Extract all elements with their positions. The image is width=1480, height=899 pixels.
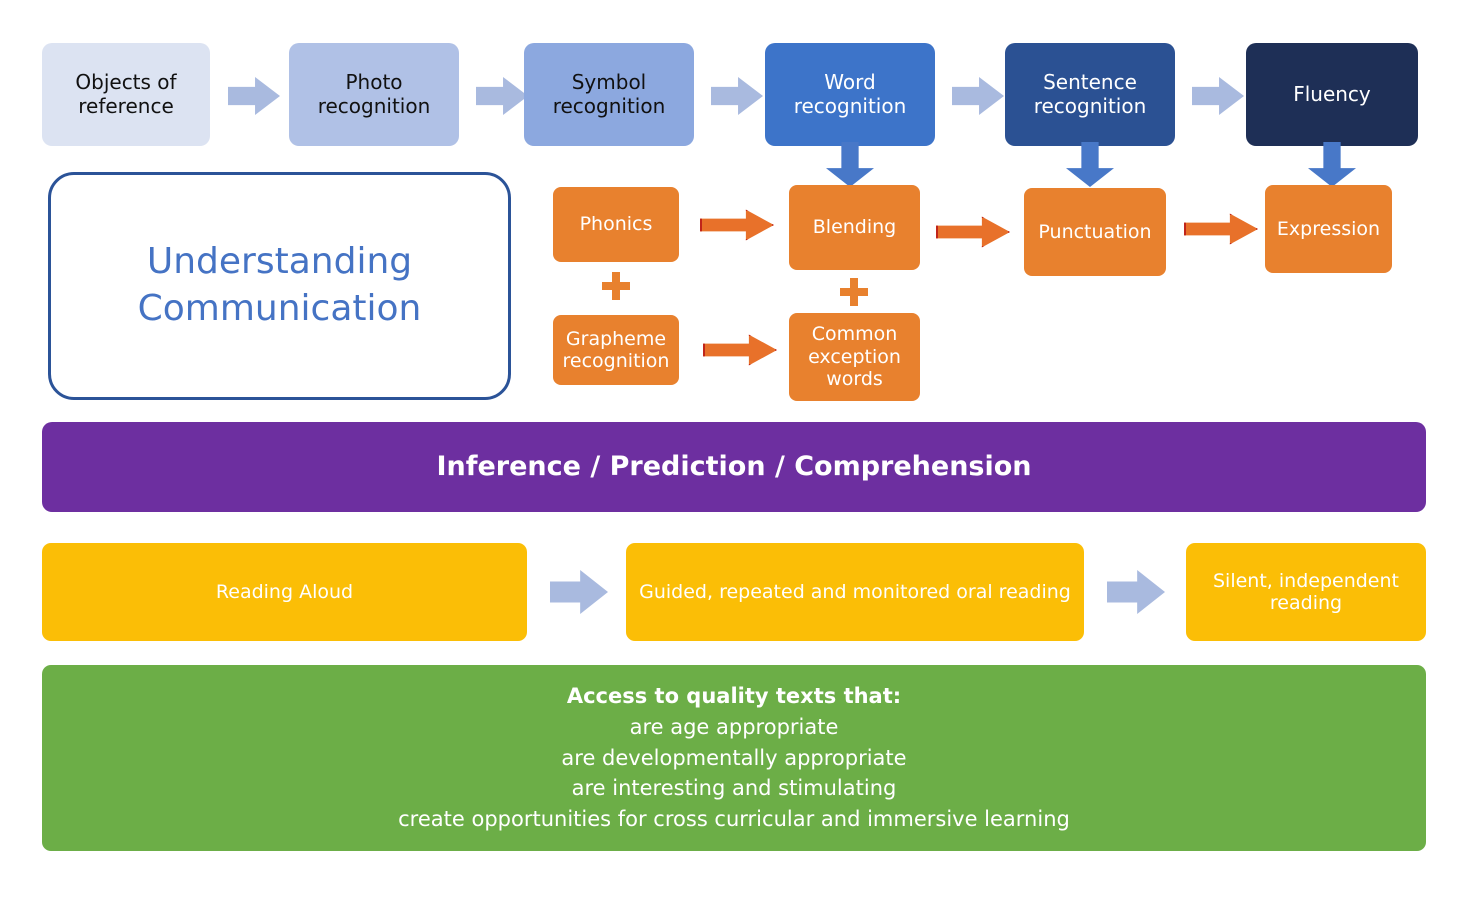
- guided-oral-reading-box[interactable]: Guided, repeated and monitored oral read…: [626, 543, 1084, 641]
- silent-independent-reading-box[interactable]: Silent, independent reading: [1186, 543, 1426, 641]
- understanding-text: Understanding Communication: [138, 239, 422, 333]
- reading-aloud-box[interactable]: Reading Aloud: [42, 543, 527, 641]
- chevron-arrow-icon-1: [228, 77, 280, 115]
- grapheme-recognition-box[interactable]: Grapheme recognition: [553, 315, 679, 385]
- phonics-box[interactable]: Phonics: [553, 187, 679, 262]
- plus-icon-blending-common-exception: [840, 278, 868, 306]
- down-arrow-icon-sentence-to-punctuation: [1066, 142, 1114, 187]
- expression-box[interactable]: Expression: [1265, 185, 1392, 273]
- down-arrow-icon-word-to-blending: [826, 142, 874, 187]
- quality-texts-line-1: are age appropriate: [630, 712, 839, 743]
- chevron-arrow-icon-4: [952, 77, 1004, 115]
- common-exception-words-box[interactable]: Common exception words: [789, 313, 920, 401]
- understanding-line-2: Communication: [138, 286, 422, 333]
- comprehension-band[interactable]: Inference / Prediction / Comprehension: [42, 422, 1426, 512]
- orange-arrow-icon-grapheme-to-common-exception: [703, 334, 777, 366]
- understanding-communication-box[interactable]: Understanding Communication: [48, 172, 511, 400]
- plus-icon-phonics-grapheme: [602, 272, 630, 300]
- quality-texts-heading: Access to quality texts that:: [567, 681, 901, 712]
- orange-arrow-icon-phonics-to-blending: [700, 209, 774, 241]
- diagram-canvas: Objects of reference Photo recognition S…: [0, 0, 1480, 899]
- stage-box-word-recognition[interactable]: Word recognition: [765, 43, 935, 146]
- quality-texts-line-4: create opportunities for cross curricula…: [398, 804, 1070, 835]
- stage-box-symbol-recognition[interactable]: Symbol recognition: [524, 43, 694, 146]
- chevron-arrow-icon-5: [1192, 77, 1244, 115]
- stage-box-sentence-recognition[interactable]: Sentence recognition: [1005, 43, 1175, 146]
- blending-box[interactable]: Blending: [789, 185, 920, 270]
- stage-box-photo-recognition[interactable]: Photo recognition: [289, 43, 459, 146]
- orange-arrow-icon-punctuation-to-expression: [1184, 213, 1258, 245]
- quality-texts-line-3: are interesting and stimulating: [572, 773, 897, 804]
- orange-arrow-icon-blending-to-punctuation: [936, 216, 1010, 248]
- chevron-arrow-icon-reading-2: [1107, 570, 1165, 614]
- understanding-line-1: Understanding: [138, 239, 422, 286]
- chevron-arrow-icon-reading-1: [550, 570, 608, 614]
- chevron-arrow-icon-3: [711, 77, 763, 115]
- down-arrow-icon-fluency-to-expression: [1308, 142, 1356, 187]
- stage-box-fluency[interactable]: Fluency: [1246, 43, 1418, 146]
- stage-box-objects-of-reference[interactable]: Objects of reference: [42, 43, 210, 146]
- quality-texts-line-2: are developmentally appropriate: [561, 743, 906, 774]
- punctuation-box[interactable]: Punctuation: [1024, 188, 1166, 276]
- quality-texts-panel[interactable]: Access to quality texts that: are age ap…: [42, 665, 1426, 851]
- chevron-arrow-icon-2: [476, 77, 528, 115]
